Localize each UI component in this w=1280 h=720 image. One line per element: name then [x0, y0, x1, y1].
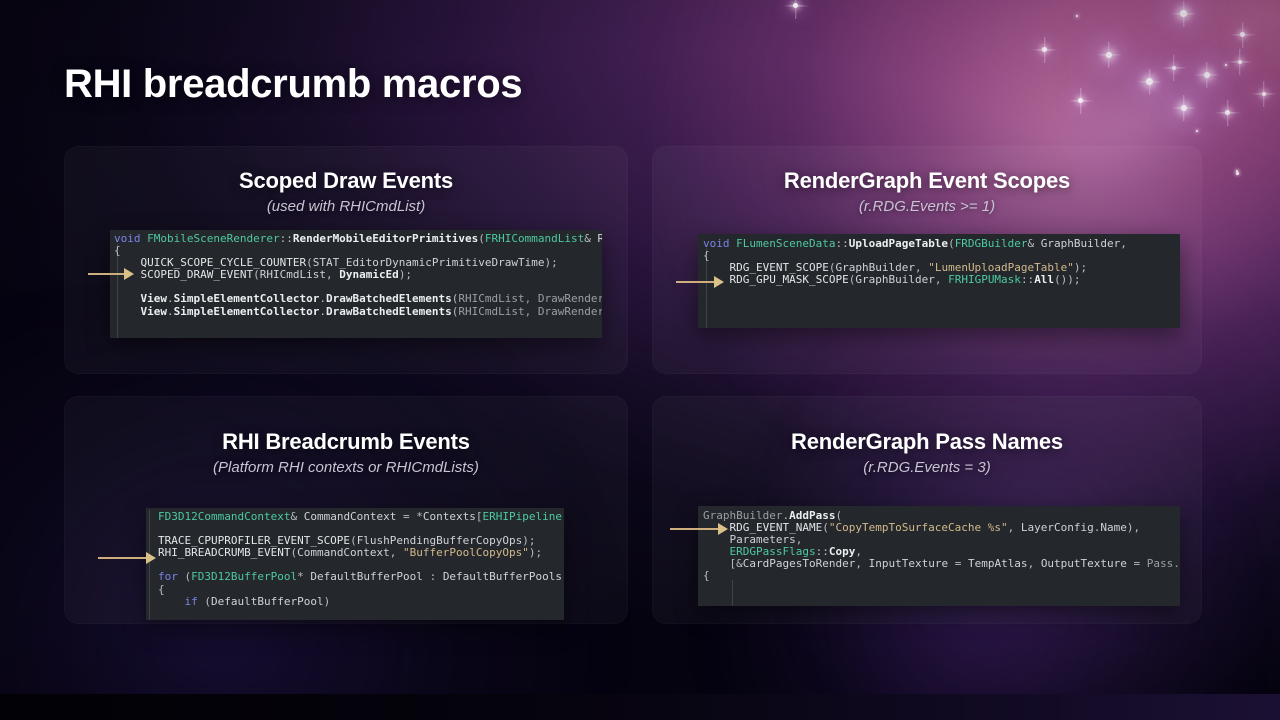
panel-heading: Scoped Draw Events (used with RHICmdList… — [64, 146, 628, 215]
code-block-rendergraph-pass-names: GraphBuilder.AddPass( RDG_EVENT_NAME("Co… — [698, 506, 1180, 606]
code-line: for (FD3D12BufferPool* DefaultBufferPool… — [158, 571, 564, 583]
code-line: SCOPED_DRAW_EVENT(RHICmdList, DynamicEd)… — [114, 269, 602, 281]
page-title: RHI breadcrumb macros — [64, 62, 522, 107]
code-line: void FLumenSceneData::UploadPageTable(FR… — [703, 238, 1180, 250]
code-line: void FMobileSceneRenderer::RenderMobileE… — [114, 233, 602, 245]
panel-subtitle: (Platform RHI contexts or RHICmdLists) — [64, 459, 628, 476]
code-line: FD3D12CommandContext& CommandContext = *… — [158, 511, 564, 523]
highlight-arrow-icon — [88, 268, 134, 280]
code-block-rendergraph-event-scopes: void FLumenSceneData::UploadPageTable(FR… — [698, 234, 1180, 328]
panel-title: RenderGraph Event Scopes — [652, 168, 1202, 194]
code-line: RDG_GPU_MASK_SCOPE(GraphBuilder, FRHIGPU… — [703, 274, 1180, 286]
highlight-arrow-icon — [676, 276, 724, 288]
code-line: View.SimpleElementCollector.DrawBatchedE… — [114, 306, 602, 318]
panel-title: RenderGraph Pass Names — [652, 429, 1202, 455]
bottom-edge-bar — [0, 694, 1280, 720]
panel-heading: RHI Breadcrumb Events (Platform RHI cont… — [64, 396, 628, 476]
highlight-arrow-icon — [98, 552, 156, 564]
code-line: if (DefaultBufferPool) — [158, 596, 564, 608]
panel-heading: RenderGraph Pass Names (r.RDG.Events = 3… — [652, 396, 1202, 476]
panel-title: RHI Breadcrumb Events — [64, 429, 628, 455]
code-block-scoped-draw-events: void FMobileSceneRenderer::RenderMobileE… — [110, 230, 602, 338]
code-line: [&CardPagesToRender, InputTexture = Temp… — [703, 558, 1180, 570]
code-line: RHI_BREADCRUMB_EVENT(CommandContext, "Bu… — [158, 547, 564, 559]
panel-subtitle: (used with RHICmdList) — [64, 198, 628, 215]
highlight-arrow-icon — [670, 523, 728, 535]
code-block-rhi-breadcrumb-events: FD3D12CommandContext& CommandContext = *… — [146, 508, 564, 620]
code-line: { — [703, 570, 1180, 582]
panel-subtitle: (r.RDG.Events = 3) — [652, 459, 1202, 476]
panel-heading: RenderGraph Event Scopes (r.RDG.Events >… — [652, 146, 1202, 215]
panel-subtitle: (r.RDG.Events >= 1) — [652, 198, 1202, 215]
panel-title: Scoped Draw Events — [64, 168, 628, 194]
